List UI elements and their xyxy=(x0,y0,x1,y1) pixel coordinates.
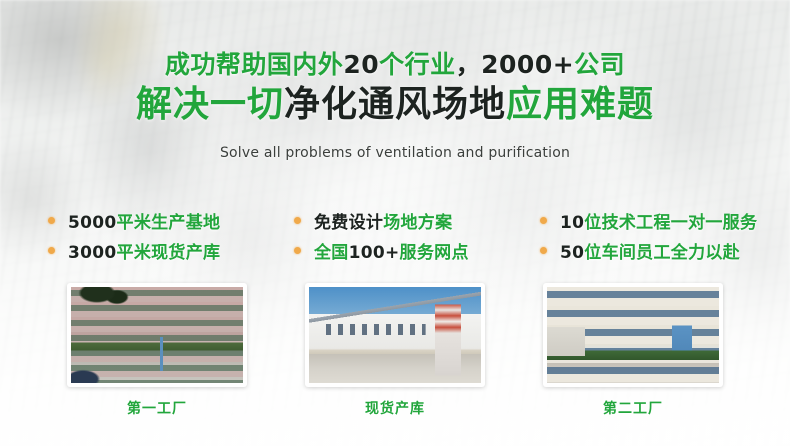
feature-2-0-run-1: 位技术工程一对一服务 xyxy=(584,213,757,233)
bullet-dot-icon xyxy=(48,247,55,254)
feature-0-0-run-0: 5000 xyxy=(68,213,117,233)
feature-item-label: 免费设计场地方案 xyxy=(314,208,452,233)
feature-item: 10位技术工程一对一服务 xyxy=(540,205,754,235)
feature-2-1-run-0: 50 xyxy=(560,243,584,263)
photo-caption: 现货产库 xyxy=(305,398,485,418)
feature-item-label: 10位技术工程一对一服务 xyxy=(560,208,757,233)
feature-item: 免费设计场地方案 xyxy=(294,205,518,235)
warehouse-building-photo xyxy=(309,287,481,383)
feature-item: 50位车间员工全力以赴 xyxy=(540,235,754,265)
feature-columns: 5000平米生产基地3000平米现货产库 免费设计场地方案全国100+服务网点 … xyxy=(48,205,754,265)
feature-0-0-run-1: 平米生产基地 xyxy=(117,213,221,233)
feature-1-1-run-2: 服务网点 xyxy=(400,243,469,263)
headline-line-2-run-2: 应用难题 xyxy=(506,84,654,125)
feature-item: 5000平米生产基地 xyxy=(48,205,284,235)
headline-line-2-run-0: 解决一切 xyxy=(136,84,284,125)
photo-caption: 第一工厂 xyxy=(67,398,247,418)
photo-card: 第二工厂 xyxy=(543,283,723,418)
photo-card: 现货产库 xyxy=(305,283,485,418)
feature-item: 3000平米现货产库 xyxy=(48,235,284,265)
feature-2-1-run-1: 位车间员工全力以赴 xyxy=(584,243,740,263)
photo-card: 第一工厂 xyxy=(67,283,247,418)
feature-column-3: 10位技术工程一对一服务50位车间员工全力以赴 xyxy=(524,205,754,265)
feature-column-1: 5000平米生产基地3000平米现货产库 xyxy=(48,205,284,265)
office-building-photo xyxy=(547,287,719,383)
headline-line-1-run-3: ，2000+ xyxy=(456,50,575,79)
bullet-dot-icon xyxy=(48,217,55,224)
photo-frame xyxy=(543,283,723,387)
feature-item-label: 3000平米现货产库 xyxy=(68,238,220,263)
photo-caption: 第二工厂 xyxy=(543,398,723,418)
bullet-dot-icon xyxy=(540,247,547,254)
feature-item-label: 全国100+服务网点 xyxy=(314,238,469,263)
factory-building-photo xyxy=(71,287,243,383)
bullet-dot-icon xyxy=(540,217,547,224)
feature-column-2: 免费设计场地方案全国100+服务网点 xyxy=(290,205,518,265)
photo-card-row: 第一工厂 现货产库 第二工厂 xyxy=(0,283,790,418)
headline-line-2: 解决一切净化通风场地应用难题 xyxy=(0,82,790,128)
headline-line-1-run-4: 公司 xyxy=(574,50,625,79)
bullet-dot-icon xyxy=(294,247,301,254)
feature-item-label: 50位车间员工全力以赴 xyxy=(560,238,740,263)
photo-frame xyxy=(305,283,485,387)
banner-content: 成功帮助国内外20个行业，2000+公司 解决一切净化通风场地应用难题 Solv… xyxy=(0,0,790,446)
photo-frame xyxy=(67,283,247,387)
feature-0-1-run-0: 3000 xyxy=(68,243,117,263)
feature-0-1-run-1: 平米现货产库 xyxy=(117,243,221,263)
feature-1-1-run-1: 100+ xyxy=(349,243,400,263)
headline-line-1-run-2: 个行业 xyxy=(379,50,456,79)
feature-1-0-run-1: 场地方案 xyxy=(383,213,452,233)
headline-line-1: 成功帮助国内外20个行业，2000+公司 xyxy=(0,50,790,80)
feature-1-0-run-0: 免费设计 xyxy=(314,213,383,233)
promo-banner: 成功帮助国内外20个行业，2000+公司 解决一切净化通风场地应用难题 Solv… xyxy=(0,0,790,446)
feature-item-label: 5000平米生产基地 xyxy=(68,208,220,233)
headline-line-2-run-1: 净化通风场地 xyxy=(284,84,506,125)
feature-1-1-run-0: 全国 xyxy=(314,243,349,263)
feature-2-0-run-0: 10 xyxy=(560,213,584,233)
headline-line-1-run-1: 20 xyxy=(343,50,379,79)
headline-line-1-run-0: 成功帮助国内外 xyxy=(165,50,344,79)
bullet-dot-icon xyxy=(294,217,301,224)
headline-block: 成功帮助国内外20个行业，2000+公司 解决一切净化通风场地应用难题 xyxy=(0,50,790,128)
headline-subtitle: Solve all problems of ventilation and pu… xyxy=(0,145,790,161)
feature-item: 全国100+服务网点 xyxy=(294,235,518,265)
